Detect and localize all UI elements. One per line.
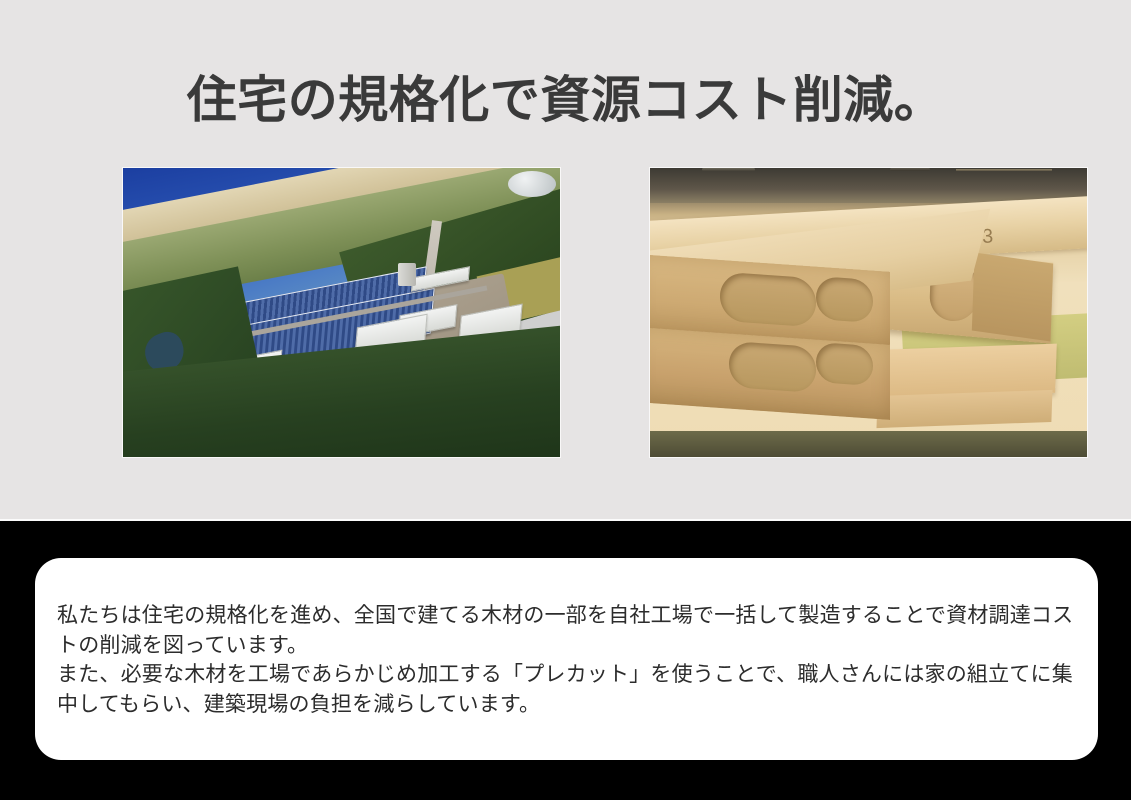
aerial-factory-photo — [123, 168, 560, 457]
workshop-backdrop — [650, 168, 1087, 203]
machine-shape — [702, 168, 754, 171]
slide-root: 住宅の規格化で資源コスト削減。 — [0, 0, 1131, 800]
description-text: 私たちは住宅の規格化を進め、全国で建てる木材の一部を自社工場で一括して製造するこ… — [57, 601, 1078, 719]
beam-notch — [720, 272, 816, 328]
beam-notch — [729, 341, 816, 393]
precut-timber-photo: 53 — [650, 168, 1087, 457]
precut-timber-illustration: 53 — [650, 168, 1087, 457]
machine-shape — [956, 169, 1052, 171]
right-beam-end-face — [972, 252, 1053, 341]
aerial-factory-illustration — [123, 168, 560, 457]
workshop-floor — [650, 431, 1087, 457]
storage-tank-shape — [508, 171, 556, 197]
beam-notch — [816, 276, 873, 323]
description-card: 私たちは住宅の規格化を進め、全国で建てる木材の一部を自社工場で一括して製造するこ… — [35, 558, 1098, 760]
lower-plank — [877, 390, 1053, 428]
machine-shape — [890, 168, 929, 171]
hero-panel: 住宅の規格化で資源コスト削減。 — [0, 0, 1131, 521]
silo-shape — [398, 263, 415, 286]
page-title: 住宅の規格化で資源コスト削減。 — [0, 70, 1131, 130]
